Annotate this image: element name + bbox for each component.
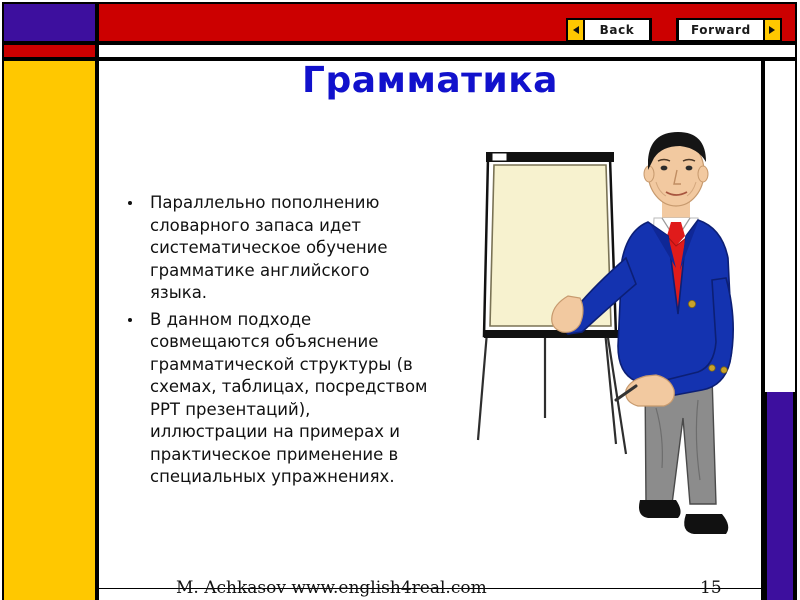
eye-icon: [661, 166, 668, 171]
jacket-button-icon: [709, 365, 715, 371]
left-red-strip: [2, 43, 97, 59]
bullet-list: Параллельно пополнению словарного запаса…: [120, 192, 430, 493]
page-number: 15: [700, 578, 722, 598]
right-shoe-icon: [684, 514, 728, 534]
back-button[interactable]: Back: [566, 18, 652, 42]
page-title: Грамматика: [120, 60, 740, 101]
footer-credit: M. Achkasov www.english4real.com: [176, 578, 487, 598]
list-item: Параллельно пополнению словарного запаса…: [120, 192, 430, 305]
triangle-right-icon: [764, 20, 780, 40]
back-button-body[interactable]: Back: [566, 18, 652, 42]
top-white-divider-strip: [97, 43, 797, 59]
top-left-purple-block: [2, 2, 97, 43]
forward-button[interactable]: Forward: [676, 18, 782, 42]
back-button-label: Back: [584, 20, 650, 40]
right-purple-block: [765, 392, 795, 600]
forward-button-body[interactable]: Forward: [676, 18, 782, 42]
flipchart-legs-icon: [478, 331, 616, 444]
forward-button-label: Forward: [678, 20, 764, 40]
jacket-button-icon: [721, 367, 727, 373]
left-shoe-icon: [639, 500, 681, 518]
triangle-left-icon: [568, 20, 584, 40]
list-item: В данном подходе совмещаются объяснение …: [120, 309, 430, 489]
eye-icon: [686, 166, 693, 171]
presentation-slide: Back Forward Грамматика Параллельно попо…: [0, 0, 800, 600]
jacket-button-icon: [688, 300, 695, 307]
left-yellow-sidebar: [2, 59, 97, 600]
presenter-with-flipchart-illustration: [440, 118, 750, 580]
